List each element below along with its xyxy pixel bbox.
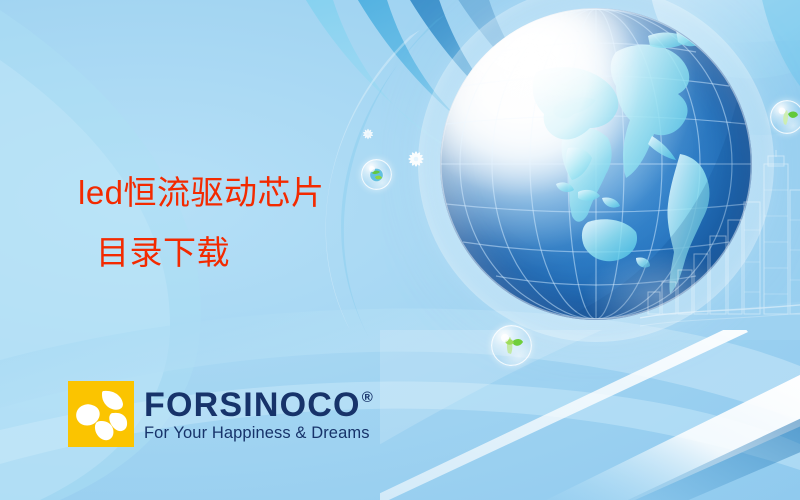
bubble-with-leaf-icon bbox=[770, 100, 800, 134]
bubble-with-globe-icon bbox=[361, 159, 392, 190]
globe-sphere bbox=[440, 8, 752, 320]
page-title: led恒流驱动芯片 目录下载 bbox=[78, 163, 408, 283]
slide-canvas: led恒流驱动芯片 目录下载 FORSINOCO ® bbox=[0, 0, 800, 500]
diagonal-ribbons-graphic bbox=[380, 330, 800, 500]
daisy-flower-icon bbox=[359, 125, 377, 143]
daisy-flower-icon bbox=[403, 146, 429, 172]
globe-halo bbox=[418, 0, 774, 342]
brand-name: FORSINOCO ® bbox=[144, 388, 374, 422]
globe-rim bbox=[440, 8, 752, 320]
globe-continents bbox=[440, 8, 752, 320]
logo-text-block: FORSINOCO ® For Your Happiness & Dreams bbox=[144, 386, 374, 443]
headline-line-2: 目录下载 bbox=[78, 223, 408, 283]
company-logo: FORSINOCO ® For Your Happiness & Dreams bbox=[68, 381, 374, 447]
four-petal-flower-icon bbox=[68, 381, 134, 447]
globe-specular-sheen bbox=[440, 8, 752, 320]
bubble-with-leaf-icon bbox=[491, 325, 532, 366]
headline-line-1: led恒流驱动芯片 bbox=[78, 174, 325, 211]
registered-trademark-icon: ® bbox=[362, 390, 374, 405]
brand-tagline: For Your Happiness & Dreams bbox=[144, 423, 374, 443]
logo-mark-tile bbox=[68, 381, 134, 447]
brand-name-text: FORSINOCO bbox=[144, 388, 361, 422]
city-skyline-silhouette bbox=[640, 150, 800, 340]
globe-illustration bbox=[440, 8, 752, 320]
